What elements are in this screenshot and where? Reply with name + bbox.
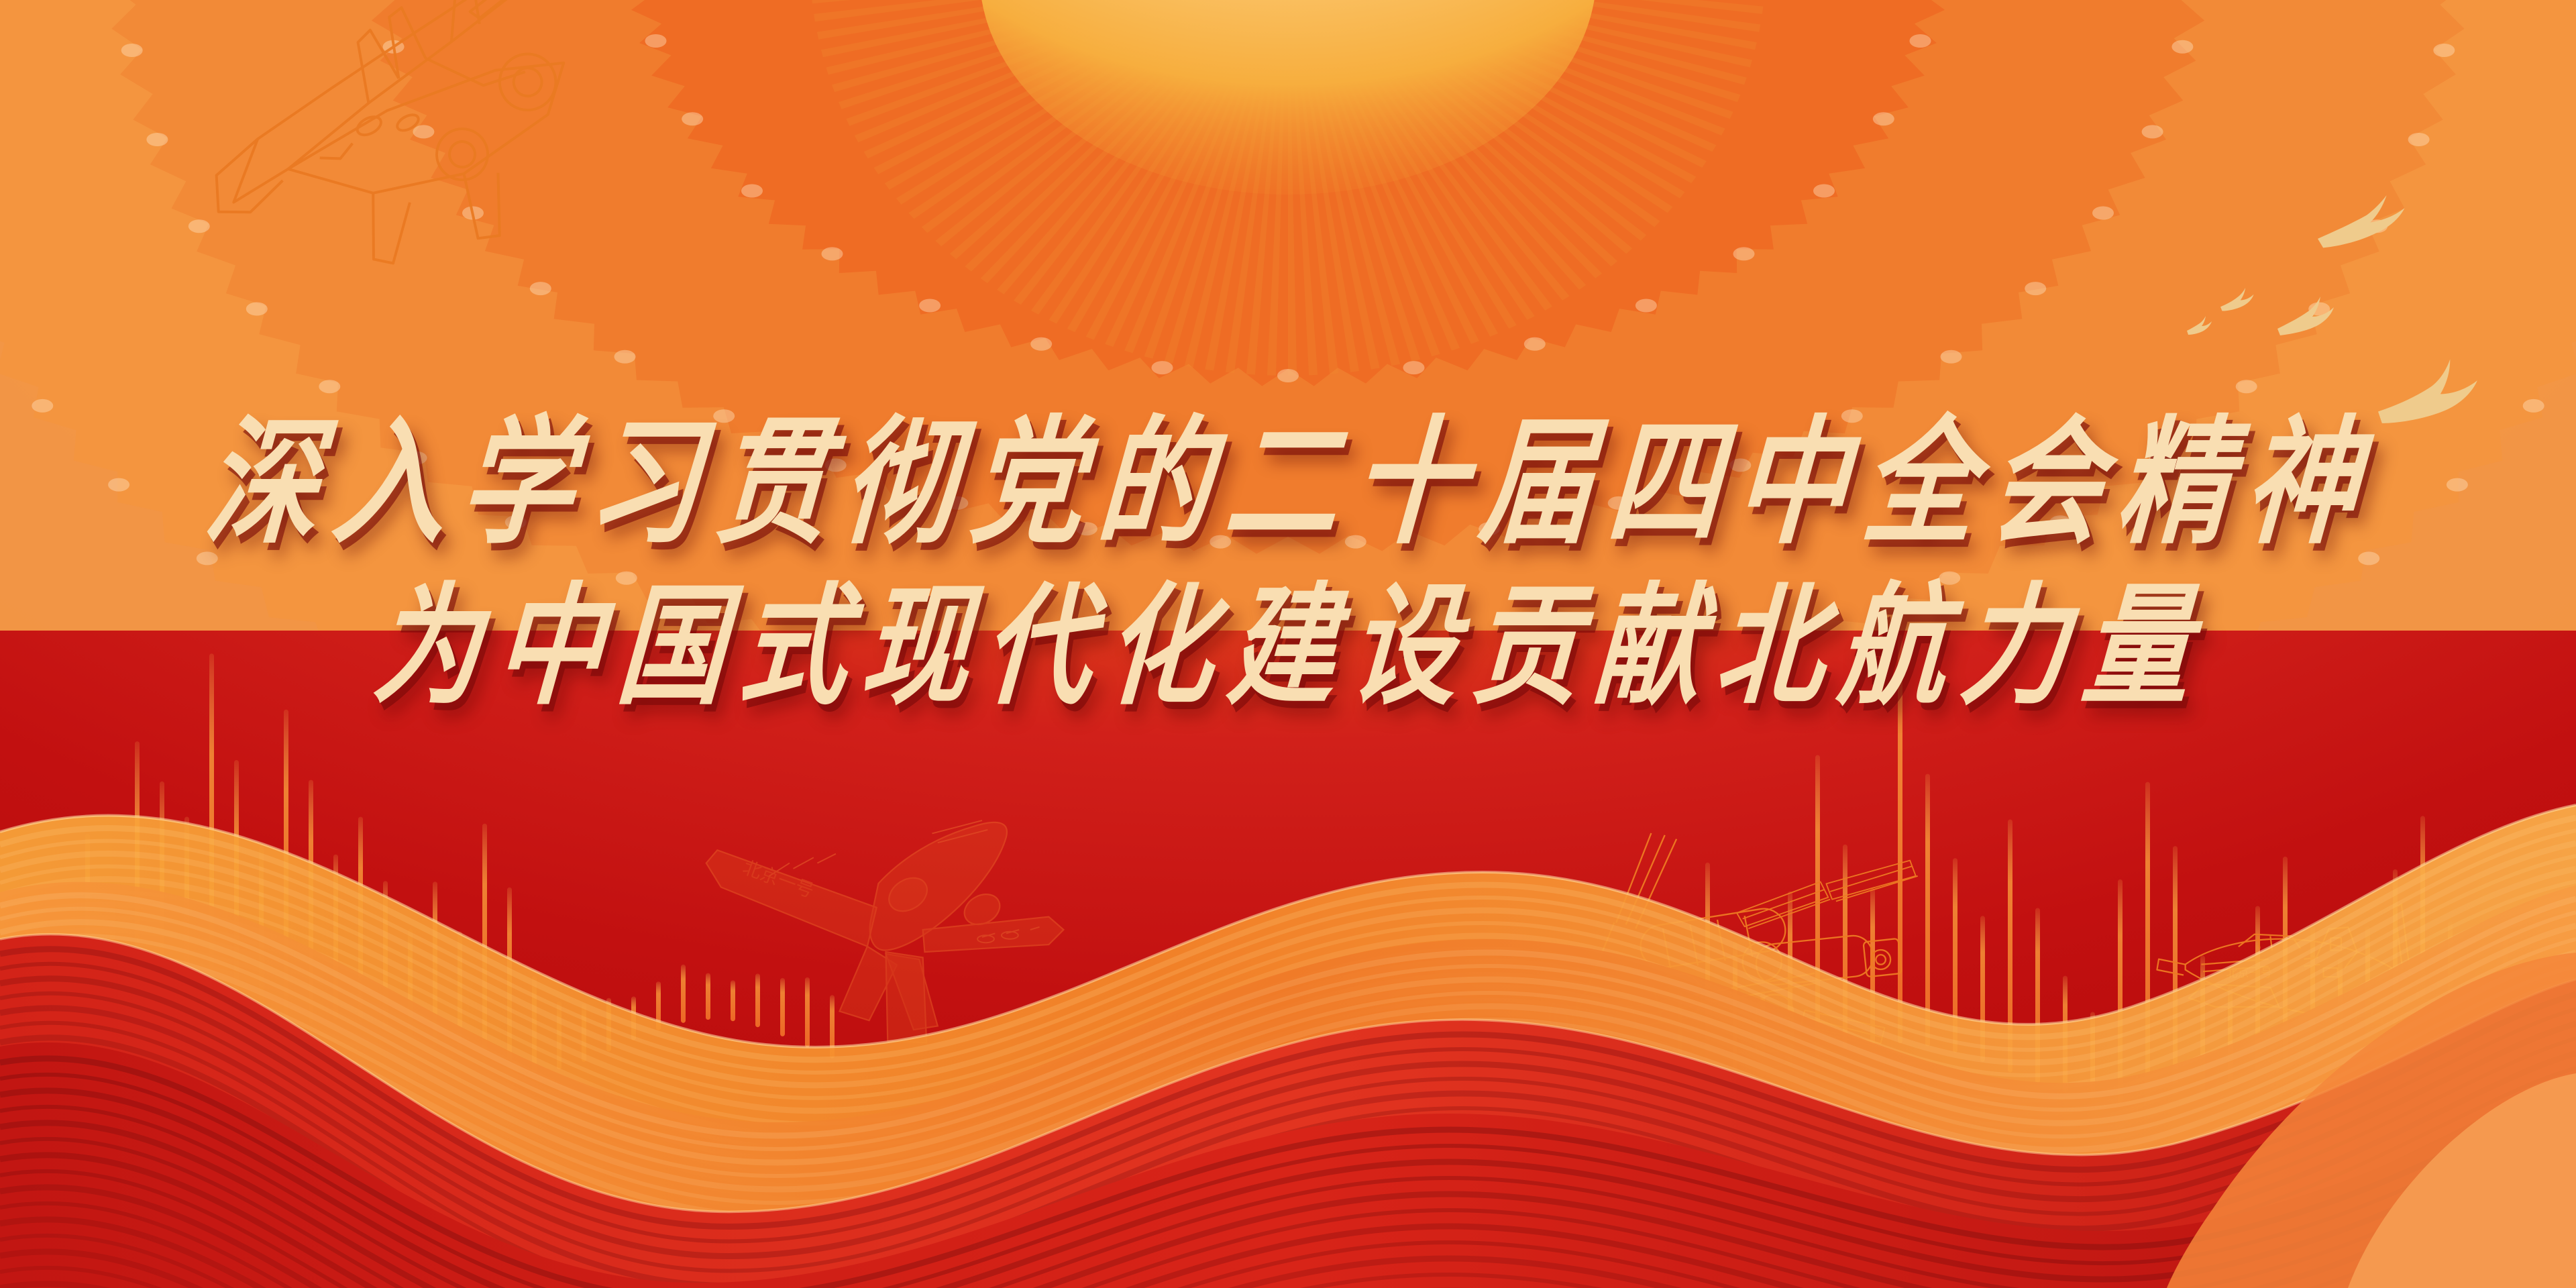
headline-line-1: 深入学习贯彻党的二十届四中全会精神 — [0, 402, 2576, 566]
headline-line-2: 为中国式现代化建设贡献北航力量 — [0, 569, 2576, 726]
poster-canvas: 北京一号 — [0, 0, 2576, 1288]
headline-block: 深入学习贯彻党的二十届四中全会精神 为中国式现代化建设贡献北航力量 — [0, 402, 2576, 698]
svg-text:北京一号: 北京一号 — [2226, 967, 2272, 979]
svg-text:北京一号: 北京一号 — [740, 857, 816, 902]
